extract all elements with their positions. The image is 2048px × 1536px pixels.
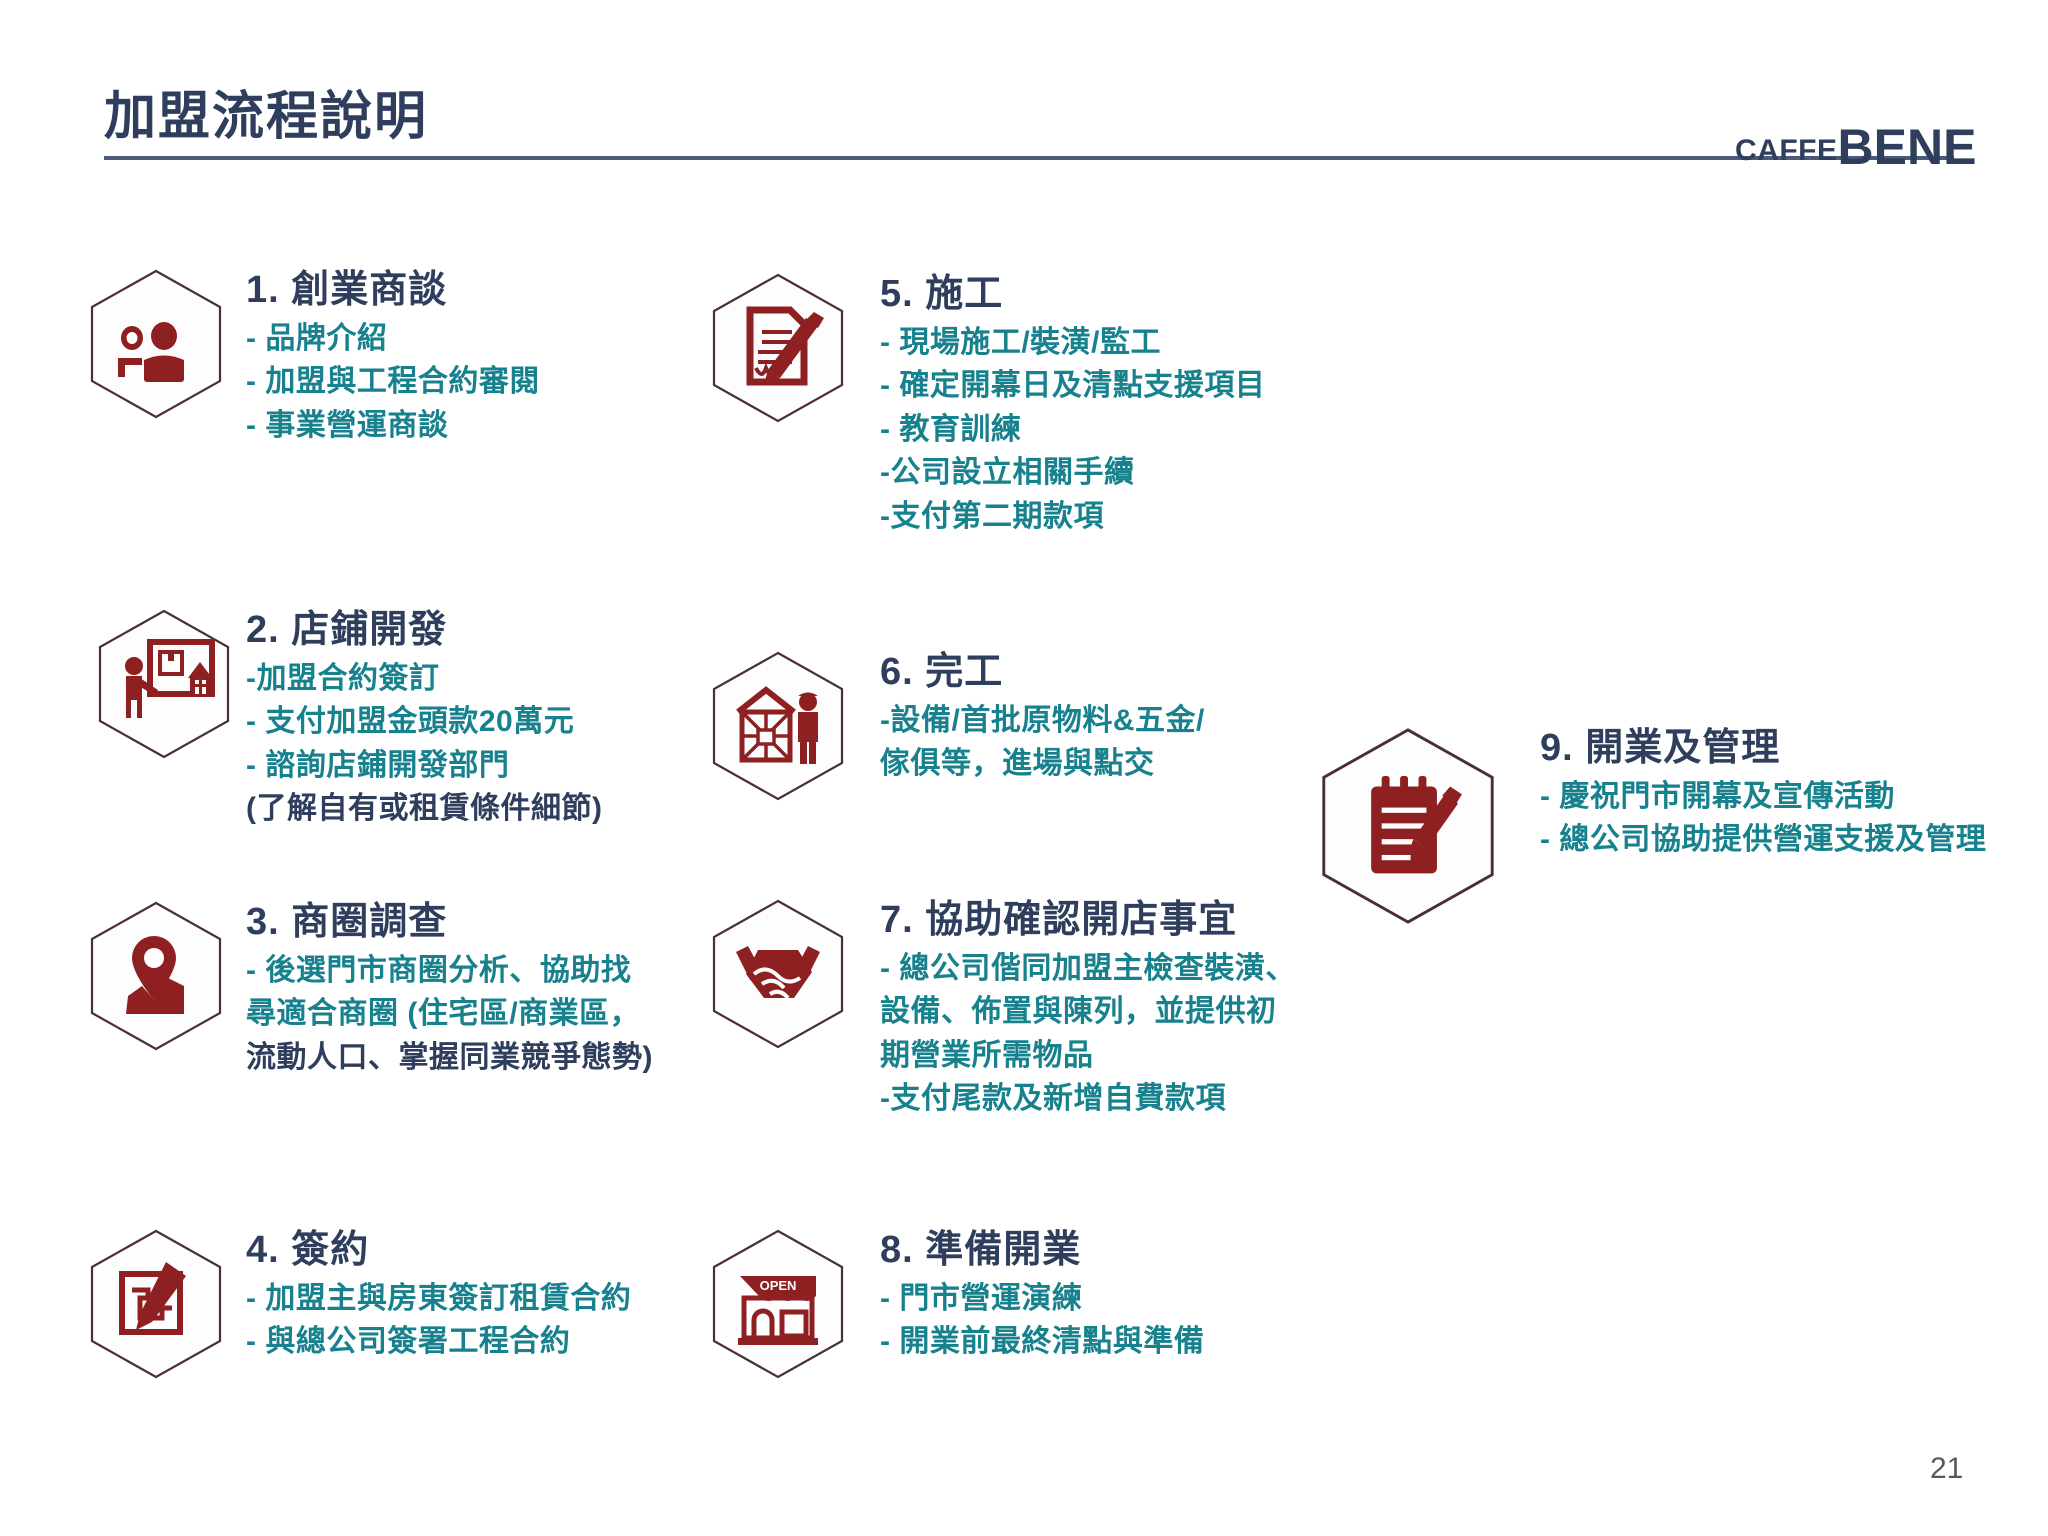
step-line: (了解自有或租賃條件細節) xyxy=(246,787,602,831)
step-line: - 加盟與工程合約審閱 xyxy=(246,360,540,404)
step-line: - 後選門市商圈分析、協助找 xyxy=(246,949,653,993)
caffe-bene-logo: CAFFEBENE xyxy=(1735,118,1976,176)
hexagon-frame-2 xyxy=(96,608,232,760)
step-line: - 現場施工/裝潢/監工 xyxy=(880,321,1265,365)
step-text-2: 2. 店鋪開發 -加盟合約簽訂 - 支付加盟金頭款20萬元 - 諮詢店鋪開發部門… xyxy=(246,608,602,831)
step-line: - 門市營運演練 xyxy=(880,1277,1204,1321)
page-title: 加盟流程說明 xyxy=(104,74,428,149)
slide-header: 加盟流程說明 CAFFEBENE xyxy=(0,0,2048,190)
step-heading-9: 9. 開業及管理 xyxy=(1540,726,1986,771)
step-heading-4: 4. 簽約 xyxy=(246,1228,631,1273)
logo-caffe-text: CAFFE xyxy=(1735,134,1838,167)
step-text-7: 7. 協助確認開店事宜 - 總公司偕同加盟主檢查裝潢、 設備、佈置與陳列，並提供… xyxy=(880,898,1296,1121)
hexagon-frame-7 xyxy=(710,898,846,1050)
step-line: - 確定開幕日及清點支援項目 xyxy=(880,364,1265,408)
step-text-4: 4. 簽約 - 加盟主與房東簽訂租賃合約 - 與總公司簽署工程合約 xyxy=(246,1228,631,1364)
step-heading-8: 8. 準備開業 xyxy=(880,1228,1204,1273)
logo-bene-text: BENE xyxy=(1838,119,1977,175)
step-heading-5: 5. 施工 xyxy=(880,272,1265,317)
step-heading-7: 7. 協助確認開店事宜 xyxy=(880,898,1296,943)
step-line: 流動人口、掌握同業競爭態勢) xyxy=(246,1036,653,1080)
step-line: - 慶祝門市開幕及宣傳活動 xyxy=(1540,775,1986,819)
step-line: - 教育訓練 xyxy=(880,408,1265,452)
hexagon-frame-3 xyxy=(88,900,224,1052)
step-line: 尋適合商圈 (住宅區/商業區， xyxy=(246,992,653,1036)
step-line: - 事業營運商談 xyxy=(246,404,540,448)
header-divider xyxy=(104,156,1954,160)
step-line: - 品牌介紹 xyxy=(246,317,540,361)
step-text-3: 3. 商圈調查 - 後選門市商圈分析、協助找 尋適合商圈 (住宅區/商業區， 流… xyxy=(246,900,653,1079)
hexagon-frame-5 xyxy=(710,272,846,424)
step-line: - 加盟主與房東簽訂租賃合約 xyxy=(246,1277,631,1321)
step-text-8: 8. 準備開業 - 門市營運演練 - 開業前最終清點與準備 xyxy=(880,1228,1204,1364)
step-line: - 開業前最終清點與準備 xyxy=(880,1320,1204,1364)
step-line: -公司設立相關手續 xyxy=(880,451,1265,495)
hexagon-frame-4 xyxy=(88,1228,224,1380)
step-line: - 總公司協助提供營運支援及管理 xyxy=(1540,818,1986,862)
step-line: -設備/首批原物料&五金/ xyxy=(880,699,1205,743)
hexagon-frame-1 xyxy=(88,268,224,420)
step-heading-1: 1. 創業商談 xyxy=(246,268,540,313)
step-line: - 支付加盟金頭款20萬元 xyxy=(246,700,602,744)
step-line: - 與總公司簽署工程合約 xyxy=(246,1320,631,1364)
hexagon-frame-6 xyxy=(710,650,846,802)
step-text-9: 9. 開業及管理 - 慶祝門市開幕及宣傳活動 - 總公司協助提供營運支援及管理 xyxy=(1540,726,1986,862)
step-text-1: 1. 創業商談 - 品牌介紹 - 加盟與工程合約審閱 - 事業營運商談 xyxy=(246,268,540,447)
hexagon-frame-9 xyxy=(1318,726,1498,926)
step-line: 期營業所需物品 xyxy=(880,1034,1296,1078)
page-number: 21 xyxy=(1930,1452,1963,1486)
step-line: -支付尾款及新增自費款項 xyxy=(880,1077,1296,1121)
step-line: - 總公司偕同加盟主檢查裝潢、 xyxy=(880,947,1296,991)
step-heading-3: 3. 商圈調查 xyxy=(246,900,653,945)
step-line: 設備、佈置與陳列，並提供初 xyxy=(880,990,1296,1034)
step-line: 傢俱等，進場與點交 xyxy=(880,742,1205,786)
step-line: - 諮詢店鋪開發部門 xyxy=(246,744,602,788)
open-sign-label: OPEN xyxy=(760,1278,797,1293)
step-text-5: 5. 施工 - 現場施工/裝潢/監工 - 確定開幕日及清點支援項目 - 教育訓練… xyxy=(880,272,1265,538)
step-line: -支付第二期款項 xyxy=(880,495,1265,539)
step-heading-2: 2. 店鋪開發 xyxy=(246,608,602,653)
step-line: -加盟合約簽訂 xyxy=(246,657,602,701)
step-heading-6: 6. 完工 xyxy=(880,650,1205,695)
step-text-6: 6. 完工 -設備/首批原物料&五金/ 傢俱等，進場與點交 xyxy=(880,650,1205,786)
hexagon-frame-8: OPEN xyxy=(710,1228,846,1380)
